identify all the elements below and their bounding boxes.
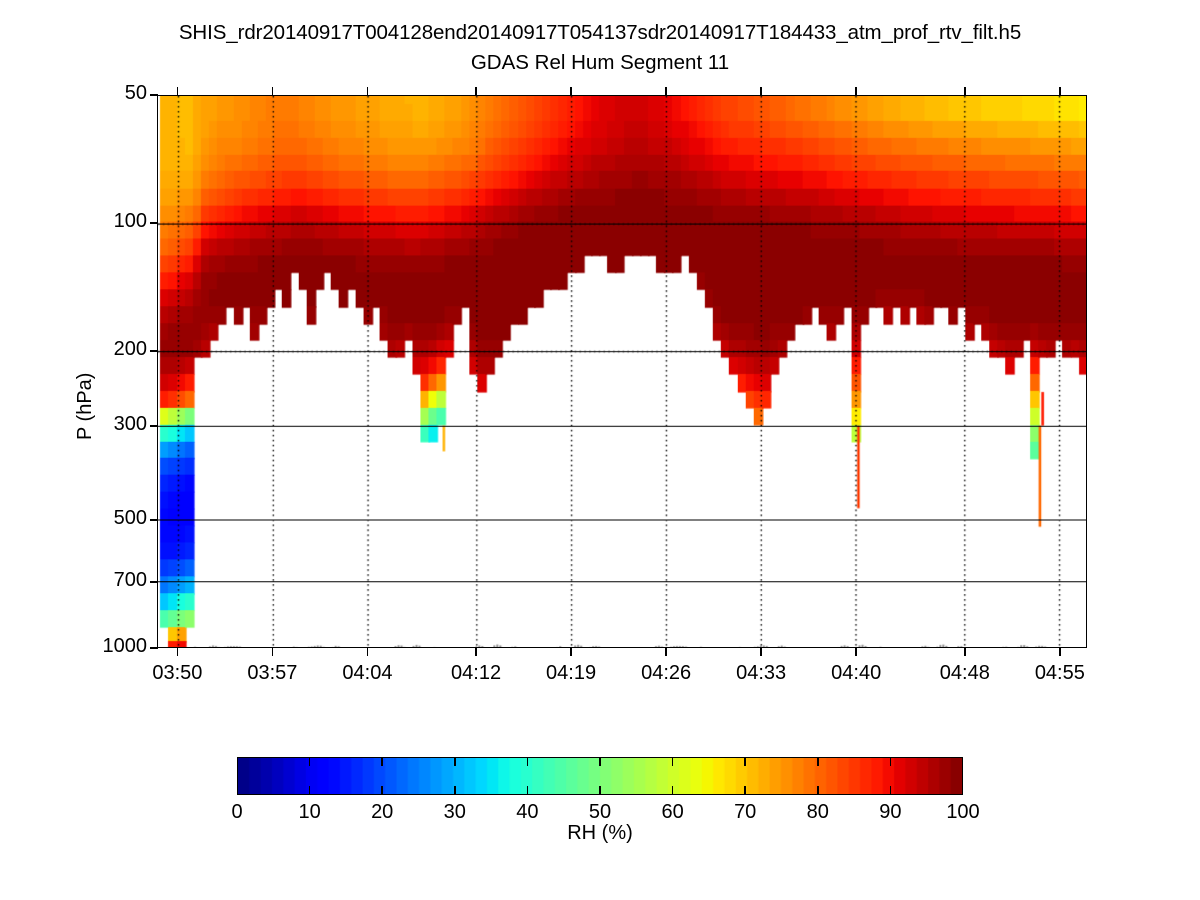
colorbar-tick-mark	[744, 786, 746, 795]
colorbar-tick-label: 0	[197, 801, 277, 824]
x-tick-mark-top	[665, 87, 667, 95]
heatmap-canvas	[158, 96, 1086, 647]
y-tick-label: 300	[61, 413, 147, 436]
x-tick-mark	[855, 648, 857, 656]
figure-title: SHIS_rdr20140917T004128end20140917T05413…	[0, 20, 1200, 76]
colorbar-tick-label: 60	[633, 801, 713, 824]
x-tick-mark-top	[855, 87, 857, 95]
colorbar-tick-mark	[817, 786, 819, 795]
x-tick-label: 04:55	[1005, 662, 1115, 685]
title-line-2: GDAS Rel Hum Segment 11	[0, 50, 1200, 76]
y-tick-mark	[150, 647, 158, 649]
figure-root: SHIS_rdr20140917T004128end20140917T05413…	[0, 0, 1200, 900]
x-tick-mark	[665, 648, 667, 656]
y-tick-label: 100	[61, 210, 147, 233]
y-tick-mark	[150, 519, 158, 521]
x-tick-mark	[177, 648, 179, 656]
colorbar-tick-mark	[381, 757, 383, 766]
x-tick-label: 04:33	[706, 662, 816, 685]
title-line-1: SHIS_rdr20140917T004128end20140917T05413…	[0, 20, 1200, 46]
x-tick-mark-top	[475, 87, 477, 95]
y-tick-mark	[150, 222, 158, 224]
y-tick-mark	[150, 425, 158, 427]
y-tick-label: 700	[61, 569, 147, 592]
y-tick-mark	[150, 581, 158, 583]
y-tick-label: 200	[61, 338, 147, 361]
colorbar-tick-mark	[890, 757, 892, 766]
colorbar-tick-mark	[672, 786, 674, 795]
colorbar-tick-mark	[454, 757, 456, 766]
colorbar-tick-label: 100	[923, 801, 1003, 824]
x-tick-mark-top	[570, 87, 572, 95]
colorbar-tick-label: 70	[705, 801, 785, 824]
colorbar-tick-mark	[527, 786, 529, 795]
x-tick-mark-top	[964, 87, 966, 95]
x-tick-label: 04:04	[312, 662, 422, 685]
y-tick-label: 50	[61, 82, 147, 105]
x-tick-mark-top	[1059, 87, 1061, 95]
colorbar-tick-label: 50	[560, 801, 640, 824]
x-tick-label: 03:50	[122, 662, 232, 685]
x-tick-mark-top	[177, 87, 179, 95]
colorbar-tick-mark	[527, 757, 529, 766]
x-tick-mark	[1059, 648, 1061, 656]
x-tick-mark-top	[367, 87, 369, 95]
colorbar-tick-mark	[672, 757, 674, 766]
x-tick-label: 03:57	[217, 662, 327, 685]
heatmap-axes	[157, 95, 1087, 648]
x-tick-label: 04:40	[801, 662, 911, 685]
colorbar-tick-mark	[744, 757, 746, 766]
colorbar-tick-mark	[309, 757, 311, 766]
x-tick-label: 04:19	[516, 662, 626, 685]
colorbar-tick-mark	[599, 757, 601, 766]
colorbar-tick-mark	[309, 786, 311, 795]
colorbar-tick-label: 90	[850, 801, 930, 824]
x-tick-mark	[570, 648, 572, 656]
y-tick-mark	[150, 350, 158, 352]
colorbar-group: 0102030405060708090100	[237, 757, 963, 795]
x-tick-mark	[760, 648, 762, 656]
colorbar-tick-mark	[890, 786, 892, 795]
x-tick-mark	[475, 648, 477, 656]
colorbar-tick-mark	[381, 786, 383, 795]
colorbar-tick-label: 40	[487, 801, 567, 824]
x-tick-mark-top	[760, 87, 762, 95]
colorbar-tick-mark	[454, 786, 456, 795]
x-tick-label: 04:48	[910, 662, 1020, 685]
colorbar-tick-label: 10	[270, 801, 350, 824]
x-tick-mark	[272, 648, 274, 656]
colorbar-tick-mark	[817, 757, 819, 766]
y-tick-label: 500	[61, 507, 147, 530]
colorbar-tick-label: 20	[342, 801, 422, 824]
x-tick-mark	[367, 648, 369, 656]
x-tick-mark-top	[272, 87, 274, 95]
x-tick-label: 04:26	[611, 662, 721, 685]
y-tick-mark	[150, 94, 158, 96]
colorbar-tick-label: 80	[778, 801, 858, 824]
x-tick-label: 04:12	[421, 662, 531, 685]
y-tick-label: 1000	[61, 635, 147, 658]
colorbar-tick-label: 30	[415, 801, 495, 824]
colorbar-label: RH (%)	[0, 822, 1200, 845]
x-tick-mark	[964, 648, 966, 656]
colorbar-tick-mark	[599, 786, 601, 795]
